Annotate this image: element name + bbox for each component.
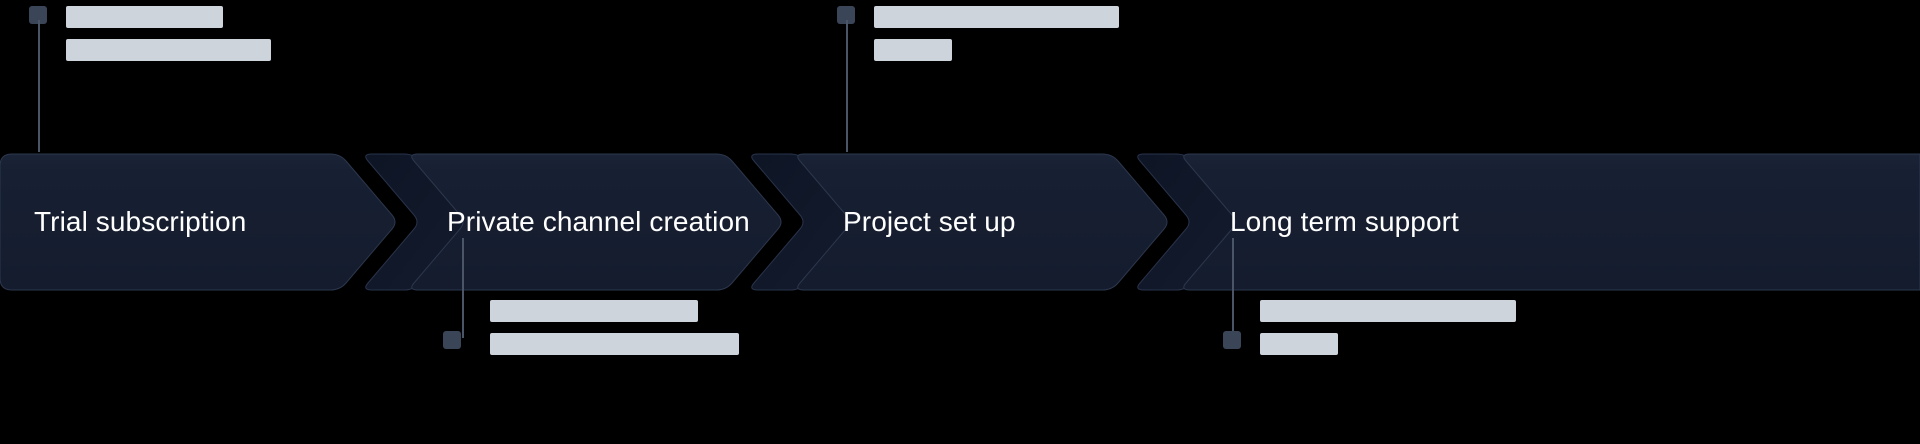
redacted-bar — [1260, 333, 1338, 355]
redacted-bar — [1260, 300, 1516, 322]
redacted-bar — [66, 39, 271, 61]
redacted-bar — [874, 39, 952, 61]
step-label-1: Trial subscription — [34, 208, 246, 236]
callout-anchor-4 — [1223, 331, 1241, 349]
callout-text-1 — [66, 6, 271, 72]
callout-anchor-3 — [443, 331, 461, 349]
step-label-3: Project set up — [843, 208, 1016, 236]
redacted-bar — [66, 6, 223, 28]
callout-connector-1 — [38, 20, 40, 152]
callout-connector-2 — [846, 20, 848, 152]
redacted-bar — [490, 333, 739, 355]
callout-text-4 — [1260, 300, 1516, 366]
callout-connector-4 — [1232, 238, 1234, 338]
redacted-bar — [490, 300, 698, 322]
redacted-bar — [874, 6, 1119, 28]
callout-text-2 — [874, 6, 1119, 72]
step-label-4: Long term support — [1230, 208, 1459, 236]
callout-text-3 — [490, 300, 739, 366]
callout-connector-3 — [462, 238, 464, 338]
step-label-2: Private channel creation — [447, 208, 750, 236]
diagram-canvas: Trial subscription Private channel creat… — [0, 0, 1920, 444]
